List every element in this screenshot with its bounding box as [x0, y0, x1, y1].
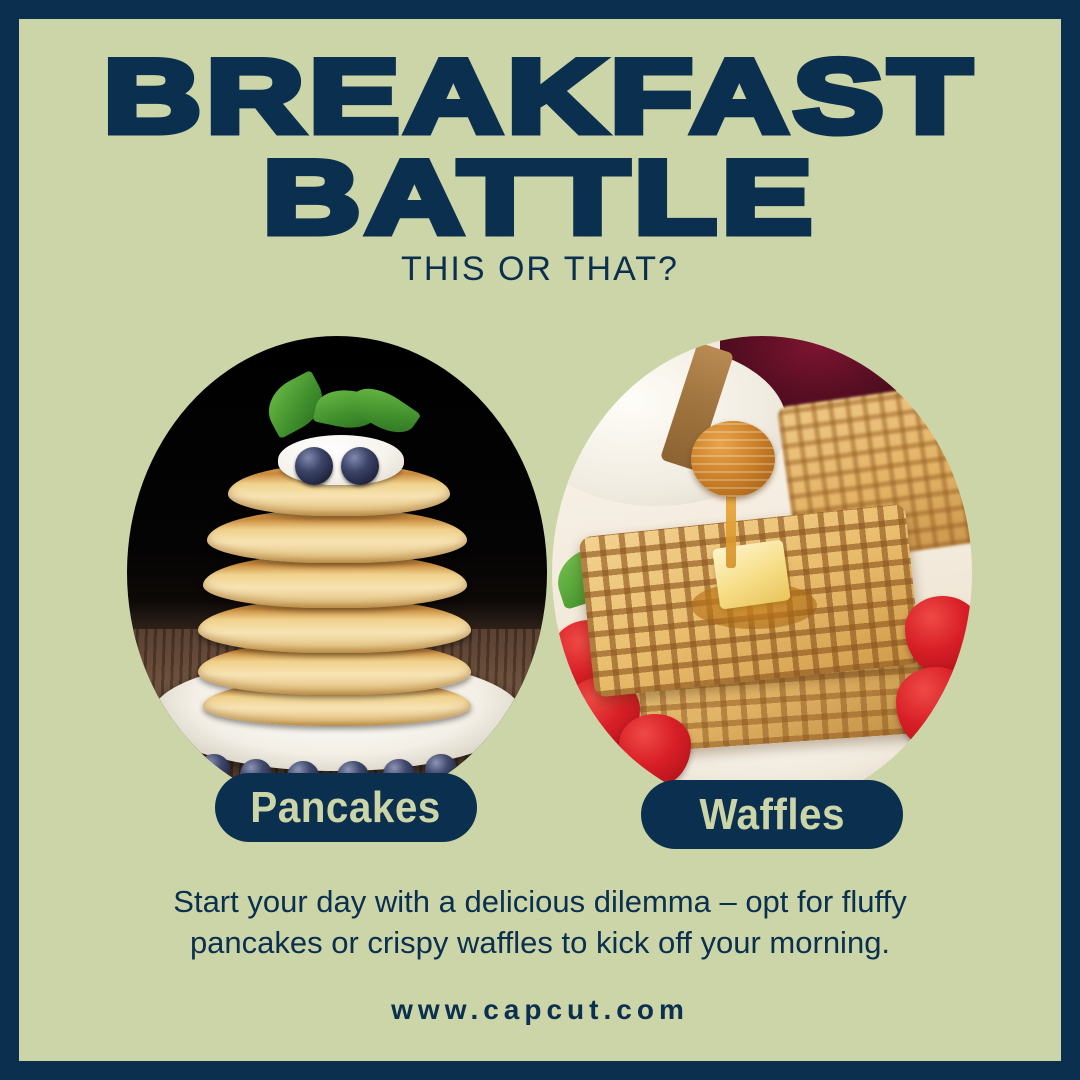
option-image-waffles: [552, 336, 972, 809]
waffles-photo-illustration: [552, 336, 972, 809]
honey-dipper-head: [691, 421, 775, 497]
strawberry: [905, 596, 972, 672]
poster-frame: BREAKFAST BATTLE THIS OR THAT?: [0, 0, 1080, 1080]
description-text: Start your day with a delicious dilemma …: [129, 881, 951, 963]
option-label-pancakes[interactable]: Pancakes: [215, 773, 477, 842]
option-label-waffles[interactable]: Waffles: [641, 780, 903, 849]
option-image-pancakes: [127, 336, 547, 809]
strawberry: [896, 667, 972, 747]
blueberry: [161, 745, 193, 776]
website-url[interactable]: www.capcut.com: [19, 994, 1061, 1026]
title-line-2: BATTLE: [19, 154, 1061, 243]
option-label-pancakes-text: Pancakes: [251, 783, 441, 833]
page-title: BREAKFAST BATTLE: [19, 53, 1061, 244]
pancake-layer: [207, 509, 467, 563]
subtitle: THIS OR THAT?: [19, 250, 1061, 289]
blueberry: [295, 447, 333, 485]
title-line-1: BREAKFAST: [19, 53, 1061, 142]
poster-canvas: BREAKFAST BATTLE THIS OR THAT?: [19, 19, 1061, 1061]
pancakes-photo-illustration: [127, 336, 547, 809]
honey-drizzle: [726, 492, 735, 568]
butter-pat: [712, 539, 791, 610]
option-label-waffles-text: Waffles: [699, 790, 845, 840]
blueberry: [341, 447, 379, 485]
strawberry: [619, 714, 690, 785]
